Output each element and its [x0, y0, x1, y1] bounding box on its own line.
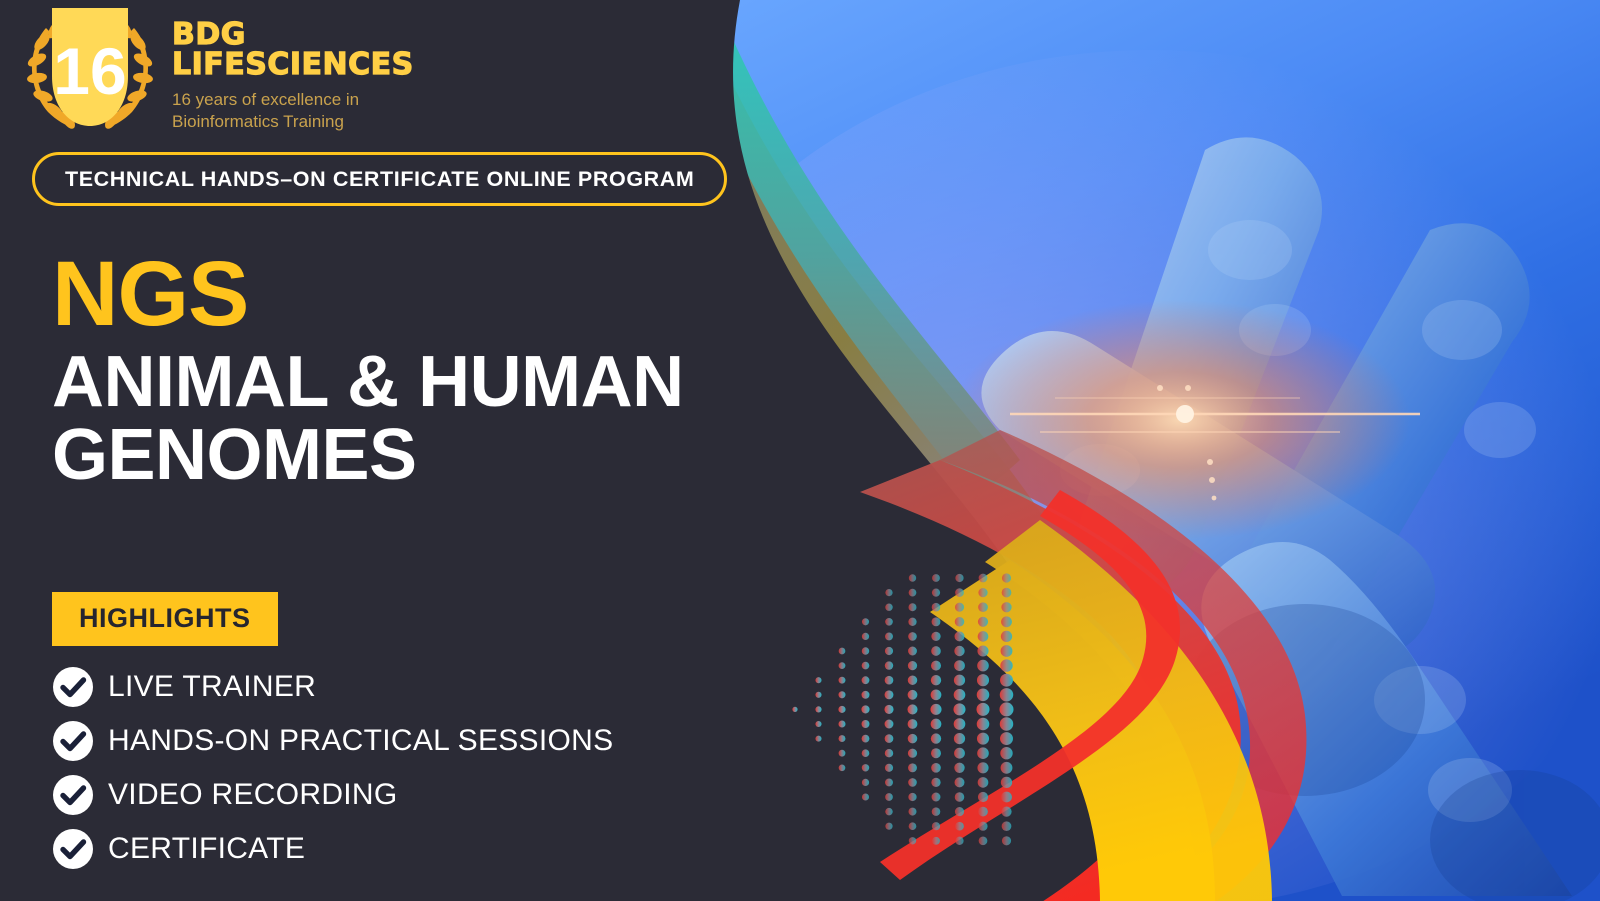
brand-logo: 16 BDG LIFESCIENCES 16 years of excellen… [16, 8, 414, 136]
highlights-list: LIVE TRAINER HANDS-ON PRACTICAL SESSIONS… [52, 666, 613, 870]
page-title: NGS ANIMAL & HUMAN GENOMES [52, 252, 684, 492]
left-content-column: 16 BDG LIFESCIENCES 16 years of excellen… [0, 0, 760, 901]
title-eyebrow: NGS [52, 252, 684, 338]
tagline-line-1: 16 years of excellence in [172, 90, 359, 109]
check-circle-icon [52, 774, 94, 816]
title-line-2: GENOMES [52, 419, 684, 492]
highlight-item: VIDEO RECORDING [52, 774, 613, 816]
brand-name-line-2: LIFESCIENCES [172, 50, 414, 80]
brand-tagline: 16 years of excellence in Bioinformatics… [172, 89, 414, 134]
highlight-label: LIVE TRAINER [108, 670, 316, 704]
program-type-label: TECHNICAL HANDS–ON CERTIFICATE ONLINE PR… [65, 167, 694, 192]
brand-text: BDG LIFESCIENCES 16 years of excellence … [172, 8, 414, 134]
tagline-line-2: Bioinformatics Training [172, 112, 344, 131]
check-circle-icon [52, 720, 94, 762]
highlight-item: HANDS-ON PRACTICAL SESSIONS [52, 720, 613, 762]
shield-laurel-badge-icon: 16 [16, 8, 164, 136]
highlight-label: VIDEO RECORDING [108, 778, 398, 812]
program-type-badge: TECHNICAL HANDS–ON CERTIFICATE ONLINE PR… [32, 152, 727, 206]
highlight-item: CERTIFICATE [52, 828, 613, 870]
highlights-heading-badge: HIGHLIGHTS [52, 592, 278, 646]
check-circle-icon [52, 828, 94, 870]
highlight-label: HANDS-ON PRACTICAL SESSIONS [108, 724, 613, 758]
course-promo-poster: 16 BDG LIFESCIENCES 16 years of excellen… [0, 0, 1600, 901]
svg-text:16: 16 [53, 34, 126, 108]
title-line-1: ANIMAL & HUMAN [52, 342, 684, 422]
highlight-label: CERTIFICATE [108, 832, 305, 866]
highlights-section: HIGHLIGHTS LIVE TRAINER HANDS-ON PRACTIC… [52, 592, 613, 882]
title-main: ANIMAL & HUMAN GENOMES [52, 346, 684, 493]
check-circle-icon [52, 666, 94, 708]
highlight-item: LIVE TRAINER [52, 666, 613, 708]
brand-name-line-1: BDG [172, 20, 414, 50]
